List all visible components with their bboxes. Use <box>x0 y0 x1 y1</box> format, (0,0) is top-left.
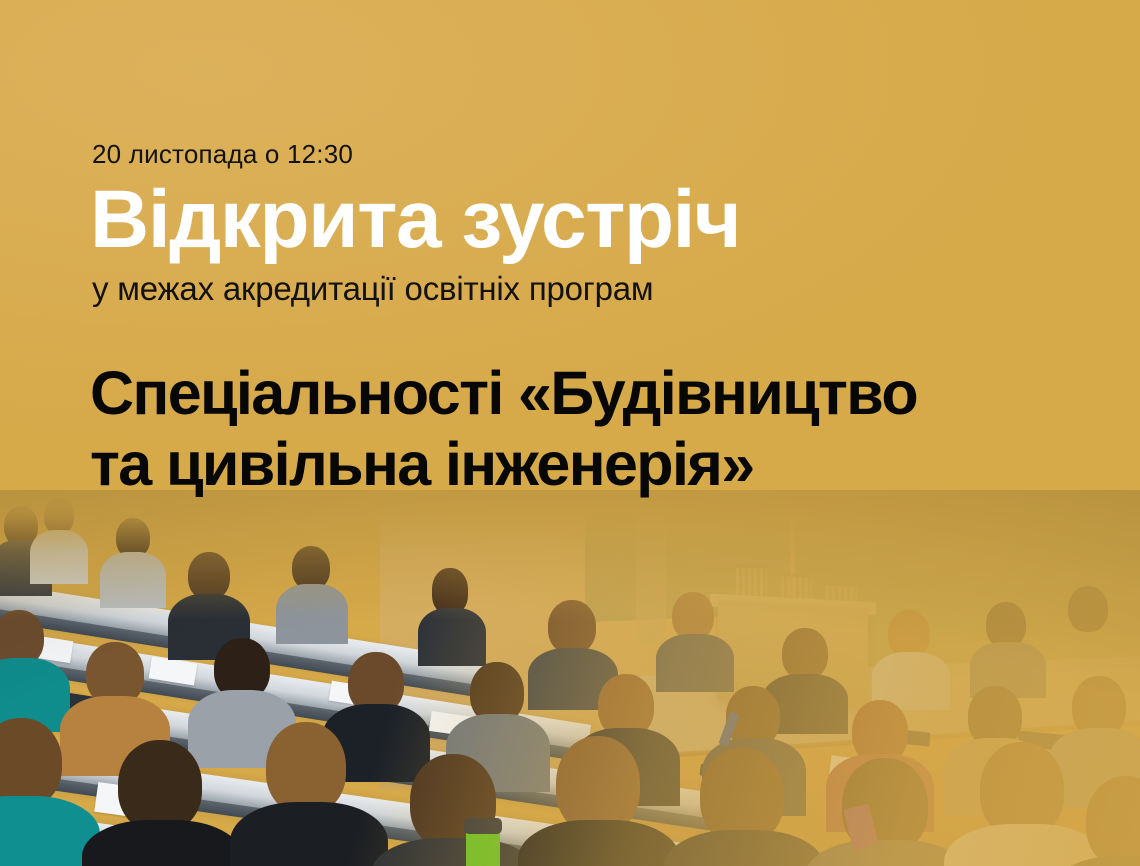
side-wall-panel <box>636 513 666 645</box>
photo-scene <box>0 490 1140 866</box>
event-datetime: 20 листопада о 12:30 <box>92 140 353 170</box>
event-announcement-poster: 20 листопада о 12:30 Відкрита зустріч у … <box>0 0 1140 866</box>
lecturer-chair <box>733 564 767 599</box>
programme-headline-line-2: та цивільна інженерія» <box>90 429 917 500</box>
poster-text-block: 20 листопада о 12:30 Відкрита зустріч у … <box>0 0 1140 520</box>
lecture-hall-photo <box>0 490 1140 866</box>
programme-headline: Спеціальності «Будівництво та цивільна і… <box>90 358 917 500</box>
programme-headline-line-1: Спеціальності «Будівництво <box>90 358 917 429</box>
thermos-lid <box>464 818 502 834</box>
event-subtitle: у межах акредитації освітніх програм <box>92 271 653 307</box>
page-title: Відкрита зустріч <box>90 179 740 261</box>
